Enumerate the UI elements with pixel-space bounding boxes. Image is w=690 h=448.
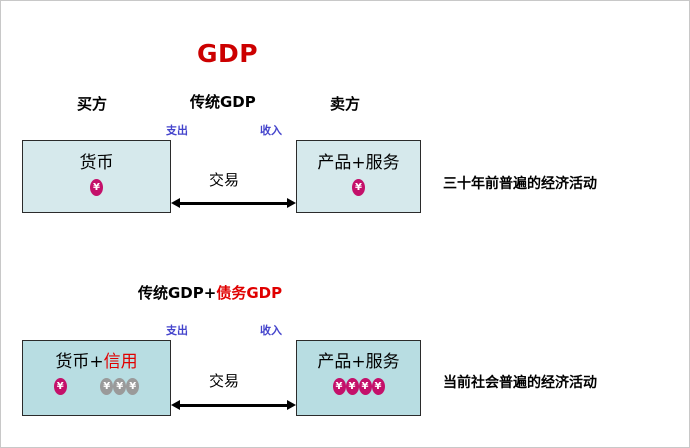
coin-row: ¥	[23, 179, 170, 196]
currency-coin-icon: ¥	[372, 378, 385, 395]
flow-label-expenditure: 支出	[166, 122, 188, 138]
currency-coin-icon: ¥	[90, 179, 103, 196]
page-title: GDP	[197, 39, 258, 68]
section-heading-part: 传统GDP+	[138, 284, 216, 302]
currency-coin-icon: ¥	[346, 378, 359, 395]
bidirectional-arrow-icon	[171, 400, 296, 411]
flow-label-expenditure: 支出	[166, 322, 188, 338]
bidirectional-arrow-icon	[171, 198, 296, 209]
currency-coin-icon: ¥	[333, 378, 346, 395]
party-label-seller: 卖方	[330, 93, 360, 114]
credit-coin-icon: ¥	[113, 378, 126, 395]
currency-coin-icon: ¥	[359, 378, 372, 395]
entity-box-label: 产品+服务	[317, 354, 399, 371]
credit-coin-icon: ¥	[126, 378, 139, 395]
diagram-canvas: GDP 买方 传统GDP 卖方 支出 收入 货币 ¥ 交易 产品+服务	[0, 0, 690, 448]
entity-box-money-credit: 货币+信用 ¥ ¥ ¥ ¥	[22, 340, 171, 416]
coin-row: ¥	[297, 179, 420, 196]
flow-label-income: 收入	[260, 322, 282, 338]
entity-box-label-part: 货币	[80, 153, 114, 173]
section-heading-debt-gdp: 传统GDP+债务GDP	[138, 282, 282, 303]
side-note-past-economy: 三十年前普遍的经济活动	[443, 173, 597, 193]
currency-coin-icon: ¥	[352, 179, 365, 196]
arrow-line	[178, 404, 289, 407]
exchange-label: 交易	[209, 169, 239, 190]
coin-row: ¥ ¥ ¥ ¥	[23, 378, 170, 395]
entity-box-label-part-credit: 信用	[104, 352, 138, 372]
credit-coin-icon: ¥	[100, 378, 113, 395]
exchange-label: 交易	[209, 370, 239, 391]
arrow-head-right-icon	[287, 400, 296, 410]
arrow-head-right-icon	[287, 198, 296, 208]
entity-box-goods-services: 产品+服务 ¥	[296, 140, 421, 213]
coin-group-money: ¥	[54, 378, 67, 395]
coin-group-credit: ¥ ¥ ¥	[100, 378, 139, 395]
entity-box-money: 货币 ¥	[22, 140, 171, 213]
arrow-line	[178, 202, 289, 205]
coin-row: ¥ ¥ ¥ ¥	[297, 378, 420, 395]
section-heading-traditional-gdp: 传统GDP	[190, 91, 256, 112]
flow-label-income: 收入	[260, 122, 282, 138]
entity-box-label: 产品+服务	[317, 155, 399, 172]
section-heading-part: 传统GDP	[190, 93, 256, 111]
entity-box-label-part: 产品+服务	[317, 153, 399, 173]
party-label-buyer: 买方	[77, 93, 107, 114]
section-heading-part-debt: 债务GDP	[216, 284, 282, 302]
entity-box-label: 货币+信用	[55, 354, 137, 371]
side-note-current-economy: 当前社会普遍的经济活动	[443, 372, 597, 392]
entity-box-label: 货币	[80, 155, 114, 172]
entity-box-goods-services: 产品+服务 ¥ ¥ ¥ ¥	[296, 340, 421, 416]
entity-box-label-part: 产品+服务	[317, 352, 399, 372]
entity-box-label-part: 货币+	[55, 352, 103, 372]
currency-coin-icon: ¥	[54, 378, 67, 395]
